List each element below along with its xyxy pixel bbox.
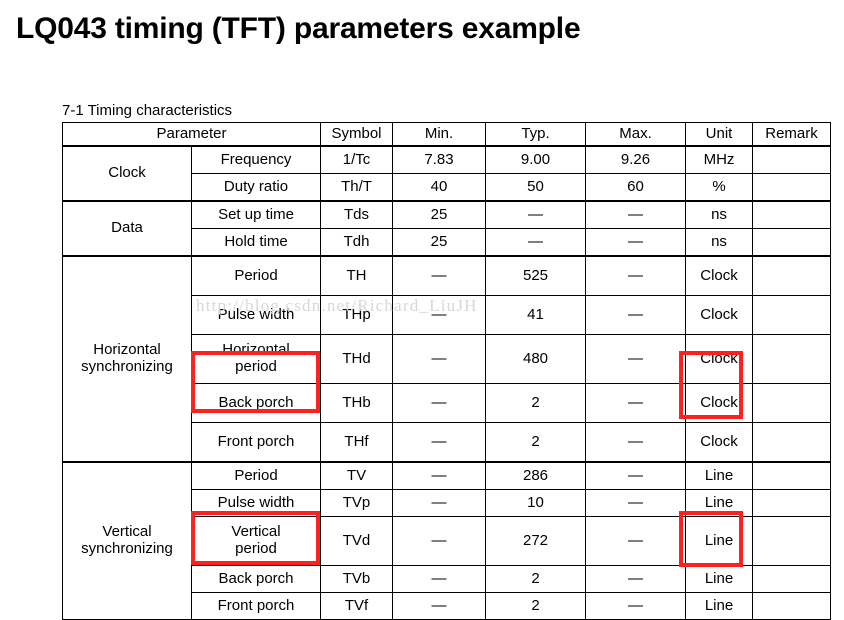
param-min: — bbox=[393, 423, 486, 463]
param-min: — bbox=[393, 335, 486, 384]
param-remark bbox=[753, 423, 831, 463]
param-remark bbox=[753, 229, 831, 257]
param-min: 40 bbox=[393, 174, 486, 202]
param-max: — bbox=[586, 296, 686, 335]
group-label-vertical-synchronizing: Vertical synchronizing bbox=[63, 462, 192, 620]
section-label: 7-1 Timing characteristics bbox=[62, 102, 232, 119]
param-min: — bbox=[393, 517, 486, 566]
param-max: — bbox=[586, 335, 686, 384]
param-min: 25 bbox=[393, 201, 486, 229]
param-symbol: THf bbox=[321, 423, 393, 463]
param-symbol: TH bbox=[321, 256, 393, 296]
table-row: Horizontal synchronizing Period TH — 525… bbox=[63, 256, 831, 296]
param-unit: Line bbox=[686, 517, 753, 566]
param-name-line1: Vertical bbox=[192, 524, 320, 541]
param-unit: ns bbox=[686, 229, 753, 257]
param-typ: 286 bbox=[486, 462, 586, 490]
table-header-row: Parameter Symbol Min. Typ. Max. Unit Rem… bbox=[63, 123, 831, 147]
group-label-line2: synchronizing bbox=[63, 541, 191, 558]
param-symbol: Tdh bbox=[321, 229, 393, 257]
param-min: — bbox=[393, 462, 486, 490]
param-name-line1: Horizontal bbox=[192, 342, 320, 359]
col-header-typ: Typ. bbox=[486, 123, 586, 147]
param-symbol: TVf bbox=[321, 593, 393, 620]
param-unit: Clock bbox=[686, 296, 753, 335]
param-unit: Clock bbox=[686, 384, 753, 423]
param-min: 25 bbox=[393, 229, 486, 257]
param-name: Period bbox=[192, 462, 321, 490]
param-max: — bbox=[586, 229, 686, 257]
param-typ: 2 bbox=[486, 566, 586, 593]
param-max: 9.26 bbox=[586, 146, 686, 174]
param-typ: 272 bbox=[486, 517, 586, 566]
param-unit: Clock bbox=[686, 335, 753, 384]
param-min: — bbox=[393, 566, 486, 593]
param-symbol: Tds bbox=[321, 201, 393, 229]
group-label-data: Data bbox=[63, 201, 192, 256]
col-header-unit: Unit bbox=[686, 123, 753, 147]
param-max: 60 bbox=[586, 174, 686, 202]
param-unit: Line bbox=[686, 593, 753, 620]
param-symbol: THp bbox=[321, 296, 393, 335]
param-name: Duty ratio bbox=[192, 174, 321, 202]
group-label-horizontal-synchronizing: Horizontal synchronizing bbox=[63, 256, 192, 462]
param-remark bbox=[753, 174, 831, 202]
param-remark bbox=[753, 566, 831, 593]
param-typ: 2 bbox=[486, 593, 586, 620]
param-symbol: THd bbox=[321, 335, 393, 384]
param-remark bbox=[753, 201, 831, 229]
param-remark bbox=[753, 593, 831, 620]
param-min: — bbox=[393, 384, 486, 423]
param-name: Pulse width bbox=[192, 296, 321, 335]
param-unit: ns bbox=[686, 201, 753, 229]
param-max: — bbox=[586, 490, 686, 517]
param-name: Set up time bbox=[192, 201, 321, 229]
param-max: — bbox=[586, 256, 686, 296]
col-header-min: Min. bbox=[393, 123, 486, 147]
param-name: Frequency bbox=[192, 146, 321, 174]
param-symbol: TVd bbox=[321, 517, 393, 566]
param-max: — bbox=[586, 566, 686, 593]
param-unit: % bbox=[686, 174, 753, 202]
group-label-line1: Horizontal bbox=[63, 342, 191, 359]
param-remark bbox=[753, 517, 831, 566]
param-symbol: TVb bbox=[321, 566, 393, 593]
param-symbol: TVp bbox=[321, 490, 393, 517]
param-max: — bbox=[586, 423, 686, 463]
table-row: Data Set up time Tds 25 — — ns bbox=[63, 201, 831, 229]
group-label-clock: Clock bbox=[63, 146, 192, 201]
param-max: — bbox=[586, 462, 686, 490]
param-max: — bbox=[586, 517, 686, 566]
param-remark bbox=[753, 146, 831, 174]
param-unit: MHz bbox=[686, 146, 753, 174]
table-row: Clock Frequency 1/Tc 7.83 9.00 9.26 MHz bbox=[63, 146, 831, 174]
param-max: — bbox=[586, 593, 686, 620]
param-name: Horizontal period bbox=[192, 335, 321, 384]
param-min: — bbox=[393, 256, 486, 296]
param-typ: — bbox=[486, 229, 586, 257]
param-max: — bbox=[586, 201, 686, 229]
param-max: — bbox=[586, 384, 686, 423]
col-header-max: Max. bbox=[586, 123, 686, 147]
param-remark bbox=[753, 256, 831, 296]
param-typ: 10 bbox=[486, 490, 586, 517]
timing-characteristics-table: Parameter Symbol Min. Typ. Max. Unit Rem… bbox=[62, 122, 831, 620]
param-unit: Line bbox=[686, 462, 753, 490]
param-typ: 9.00 bbox=[486, 146, 586, 174]
param-unit: Line bbox=[686, 566, 753, 593]
param-name: Pulse width bbox=[192, 490, 321, 517]
param-remark bbox=[753, 296, 831, 335]
param-typ: 2 bbox=[486, 423, 586, 463]
param-unit: Clock bbox=[686, 256, 753, 296]
param-typ: 2 bbox=[486, 384, 586, 423]
param-min: 7.83 bbox=[393, 146, 486, 174]
param-name: Front porch bbox=[192, 423, 321, 463]
param-symbol: TV bbox=[321, 462, 393, 490]
param-min: — bbox=[393, 296, 486, 335]
param-unit: Line bbox=[686, 490, 753, 517]
param-name: Period bbox=[192, 256, 321, 296]
param-name: Front porch bbox=[192, 593, 321, 620]
param-typ: 525 bbox=[486, 256, 586, 296]
col-header-remark: Remark bbox=[753, 123, 831, 147]
param-symbol: THb bbox=[321, 384, 393, 423]
param-remark bbox=[753, 384, 831, 423]
param-min: — bbox=[393, 490, 486, 517]
timing-characteristics-table-wrapper: Parameter Symbol Min. Typ. Max. Unit Rem… bbox=[62, 122, 830, 620]
param-name-line2: period bbox=[192, 359, 320, 376]
param-min: — bbox=[393, 593, 486, 620]
param-typ: 41 bbox=[486, 296, 586, 335]
param-symbol: 1/Tc bbox=[321, 146, 393, 174]
param-name: Vertical period bbox=[192, 517, 321, 566]
param-remark bbox=[753, 490, 831, 517]
group-label-line1: Vertical bbox=[63, 524, 191, 541]
param-name: Hold time bbox=[192, 229, 321, 257]
group-label-line2: synchronizing bbox=[63, 359, 191, 376]
param-typ: 50 bbox=[486, 174, 586, 202]
param-name: Back porch bbox=[192, 566, 321, 593]
param-remark bbox=[753, 462, 831, 490]
page-title: LQ043 timing (TFT) parameters example bbox=[16, 12, 580, 46]
param-unit: Clock bbox=[686, 423, 753, 463]
param-typ: 480 bbox=[486, 335, 586, 384]
param-remark bbox=[753, 335, 831, 384]
param-typ: — bbox=[486, 201, 586, 229]
table-row: Vertical synchronizing Period TV — 286 —… bbox=[63, 462, 831, 490]
param-name-line2: period bbox=[192, 541, 320, 558]
col-header-symbol: Symbol bbox=[321, 123, 393, 147]
param-name: Back porch bbox=[192, 384, 321, 423]
col-header-parameter: Parameter bbox=[63, 123, 321, 147]
param-symbol: Th/T bbox=[321, 174, 393, 202]
